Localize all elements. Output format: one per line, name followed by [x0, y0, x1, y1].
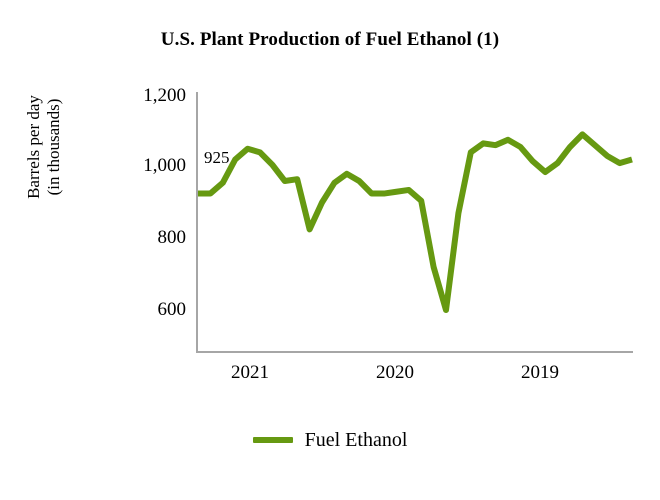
legend-label-fuel-ethanol: Fuel Ethanol [305, 428, 408, 452]
x-tick-label-2019: 2019 [485, 362, 595, 384]
x-axis-line [196, 351, 633, 353]
y-axis-title-line-2: (in thousands) [44, 99, 64, 196]
series-line-fuel-ethanol [198, 134, 632, 310]
chart-legend: Fuel Ethanol [0, 428, 660, 452]
legend-swatch-fuel-ethanol [253, 437, 293, 443]
y-axis-line [196, 92, 198, 353]
data-label-925: 925 [204, 149, 230, 167]
y-axis-title-line-1: Barrels per day [24, 95, 44, 199]
y-tick-label-800: 800 [96, 228, 186, 247]
chart-container: U.S. Plant Production of Fuel Ethanol (1… [0, 0, 660, 500]
y-tick-label-1000: 1,000 [96, 156, 186, 175]
x-tick-label-2021: 2021 [195, 362, 305, 384]
y-axis-tick-labels: 1,200 1,000 800 600 [96, 0, 186, 500]
y-tick-label-600: 600 [96, 300, 186, 319]
y-tick-label-1200: 1,200 [96, 86, 186, 105]
x-tick-label-2020: 2020 [340, 362, 450, 384]
y-axis-title: Barrels per day (in thousands) [22, 47, 66, 247]
